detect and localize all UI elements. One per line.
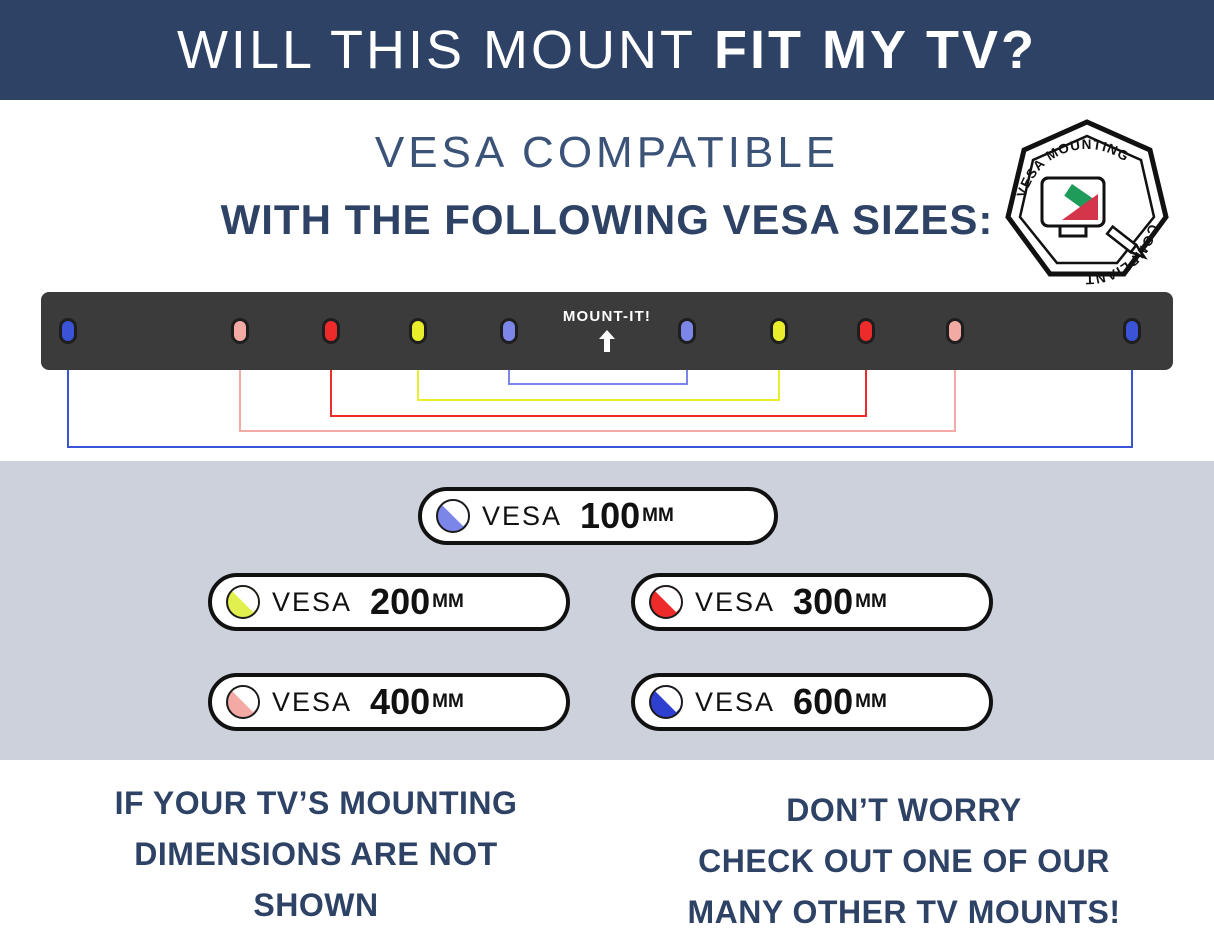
footer-right-text: DON’T WORRY CHECK OUT ONE OF OUR MANY OT… (614, 785, 1194, 939)
vesa-200-pill: VESA200MM (208, 573, 570, 631)
vesa-200-value: 200 (370, 581, 430, 623)
header-title-bold: FIT MY TV? (714, 20, 1037, 80)
footer-left-line1: IF YOUR TV’S MOUNTING (26, 778, 606, 829)
hole-300-left (322, 318, 340, 344)
vesa-600-pill: VESA600MM (631, 673, 993, 731)
vesa-600-label: VESA (695, 687, 775, 718)
vesa-size-panel: VESA100MMVESA200MMVESA300MMVESA400MMVESA… (0, 461, 1214, 760)
vesa-400-label: VESA (272, 687, 352, 718)
vesa-100-label: VESA (482, 501, 562, 532)
vesa-400-value: 400 (370, 681, 430, 723)
hole-400-right (946, 318, 964, 344)
vesa-300-label: VESA (695, 587, 775, 618)
hole-200-right (770, 318, 788, 344)
header-title: WILL THIS MOUNT FIT MY TV? (177, 23, 1037, 77)
vesa-300-value: 300 (793, 581, 853, 623)
center-arrow-icon (598, 330, 616, 352)
vesa-100-unit: MM (642, 505, 674, 527)
vesa-200-color-dot-icon (226, 585, 260, 619)
hole-400-left (231, 318, 249, 344)
hole-600-right (1123, 318, 1141, 344)
vesa-mounting-compliant-badge-icon: VESA MOUNTING COMPLIANT (1002, 116, 1172, 286)
bracket-lines (0, 370, 1214, 462)
vesa-300-pill: VESA300MM (631, 573, 993, 631)
bracket-600 (68, 370, 1132, 447)
vesa-100-pill: VESA100MM (418, 487, 778, 545)
vesa-400-unit: MM (432, 691, 464, 713)
vesa-600-color-dot-icon (649, 685, 683, 719)
header-banner: WILL THIS MOUNT FIT MY TV? (0, 0, 1214, 100)
vesa-300-unit: MM (855, 591, 887, 613)
hole-200-left (409, 318, 427, 344)
vesa-200-unit: MM (432, 591, 464, 613)
vesa-100-value: 100 (580, 495, 640, 537)
bracket-100 (509, 370, 687, 384)
footer-right-line3: MANY OTHER TV MOUNTS! (614, 887, 1194, 938)
mount-bar: MOUNT-IT! (41, 292, 1173, 370)
hole-300-right (857, 318, 875, 344)
vesa-400-pill: VESA400MM (208, 673, 570, 731)
hole-100-right (678, 318, 696, 344)
hole-100-left (500, 318, 518, 344)
vesa-300-color-dot-icon (649, 585, 683, 619)
vesa-600-value: 600 (793, 681, 853, 723)
bracket-300 (331, 370, 866, 416)
header-title-light: WILL THIS MOUNT (177, 20, 696, 80)
footer-right-line1: DON’T WORRY (614, 785, 1194, 836)
footer-left-line3: SHOWN (26, 880, 606, 931)
hole-600-left (59, 318, 77, 344)
footer-left-line2: DIMENSIONS ARE NOT (26, 829, 606, 880)
footer-left-text: IF YOUR TV’S MOUNTING DIMENSIONS ARE NOT… (26, 778, 606, 932)
vesa-100-color-dot-icon (436, 499, 470, 533)
vesa-200-label: VESA (272, 587, 352, 618)
mount-bar-brand-label: MOUNT-IT! (41, 308, 1173, 325)
footer-right-line2: CHECK OUT ONE OF OUR (614, 836, 1194, 887)
infographic-page: WILL THIS MOUNT FIT MY TV? VESA COMPATIB… (0, 0, 1214, 940)
vesa-400-color-dot-icon (226, 685, 260, 719)
mount-bar-diagram: MOUNT-IT! (0, 292, 1214, 462)
vesa-600-unit: MM (855, 691, 887, 713)
